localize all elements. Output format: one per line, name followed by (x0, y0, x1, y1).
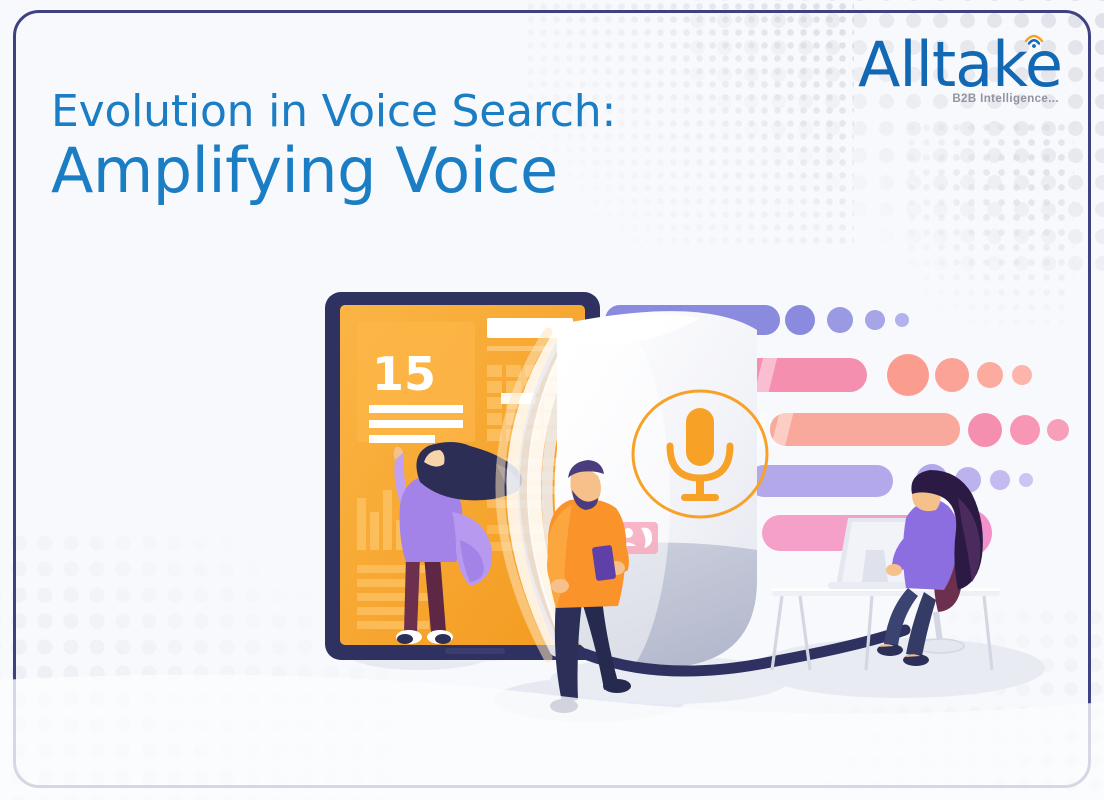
title-line-1: Evolution in Voice Search: (51, 90, 616, 134)
wave-bar-salmon (770, 413, 1069, 447)
tablet-screen-number: 15 (372, 347, 436, 401)
banner-root: Alltake B2B Intelligence... Evolution in… (0, 0, 1104, 800)
title-line-2: Amplifying Voice (51, 140, 616, 202)
wave-bar-purple-2 (748, 464, 1033, 497)
page-title: Evolution in Voice Search: Amplifying Vo… (51, 90, 616, 202)
woman-at-desk (877, 470, 983, 666)
wave-bar-pink-1 (742, 354, 1032, 396)
alltake-logo: Alltake B2B Intelligence... (858, 36, 1062, 105)
voice-search-illustration: 15 (0, 250, 1104, 800)
wifi-signal-icon (1023, 28, 1045, 48)
